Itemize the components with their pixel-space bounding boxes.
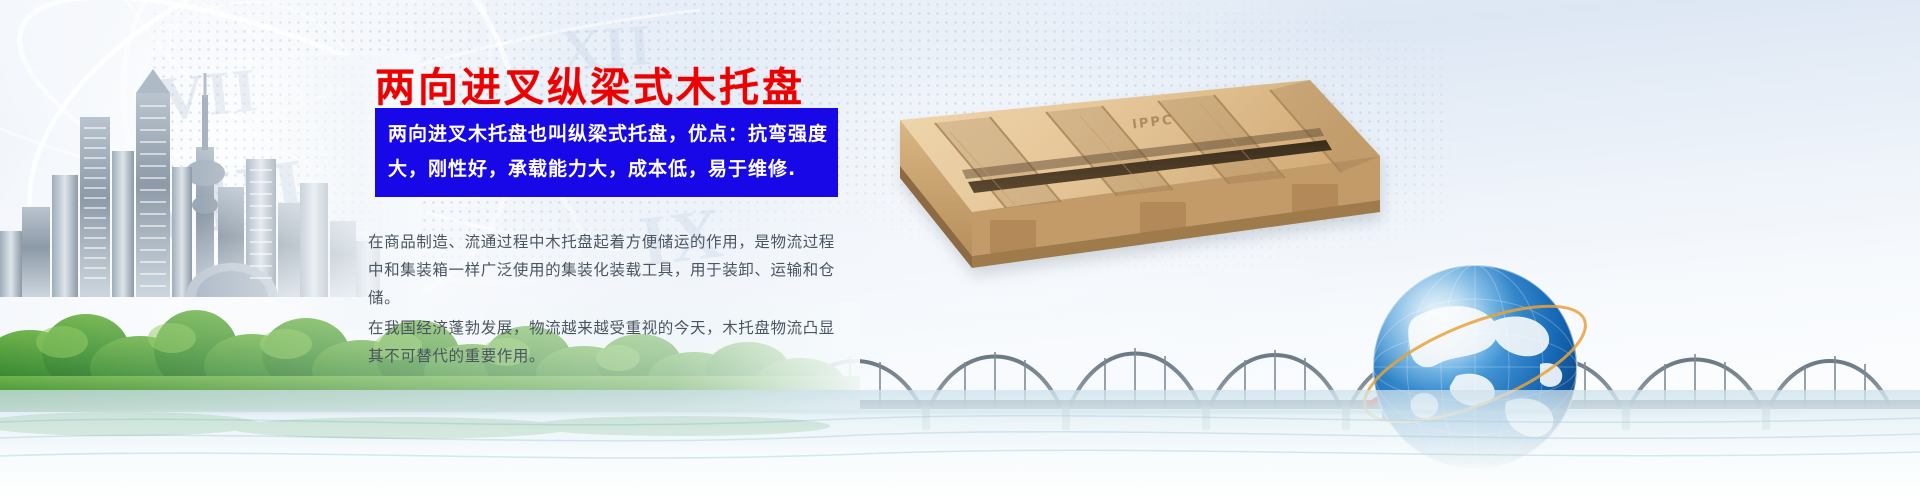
bar-1	[1382, 390, 1400, 420]
bar-2	[1408, 374, 1426, 420]
earth-globe-graphic	[1360, 252, 1590, 482]
decor-numeral-viii: VIII	[131, 137, 315, 262]
water-ripples	[0, 404, 1920, 500]
waterline-highlight	[0, 410, 1920, 414]
description-paragraph-2: 在我国经济蓬勃发展，物流越来越受重视的今天，木托盘物流凸显其不可替代的重要作用。	[368, 314, 846, 370]
bar-4	[1460, 340, 1478, 420]
highlight-callout-box: 两向进叉木托盘也叫纵梁式托盘，优点：抗弯强度 大，刚性好，承载能力大，成本低，易…	[375, 108, 838, 197]
page-title: 两向进叉纵梁式木托盘	[375, 55, 805, 113]
city-skyline-graphic	[0, 55, 420, 330]
bridge-silhouette	[780, 310, 1920, 430]
growth-arrow-icon	[1370, 318, 1482, 404]
pallet-stamp-text: IPPC	[1131, 113, 1174, 133]
wooden-pallet-photo: IPPC	[840, 60, 1400, 340]
water-reflection-band	[0, 390, 1920, 500]
callout-line-2: 大，刚性好，承载能力大，成本低，易于维修.	[388, 152, 825, 187]
description-block: 在商品制造、流通过程中木托盘起着方便储运的作用，是物流过程中和集装箱一样广泛使用…	[368, 228, 846, 370]
description-paragraph-1: 在商品制造、流通过程中木托盘起着方便储运的作用，是物流过程中和集装箱一样广泛使用…	[368, 228, 846, 312]
bar-3	[1434, 358, 1452, 420]
decor-numeral-vii: VII	[157, 55, 263, 136]
promo-banner: VIII VII XII IX	[0, 0, 1920, 500]
growth-bar-chart	[1360, 312, 1530, 422]
callout-line-1: 两向进叉木托盘也叫纵梁式托盘，优点：抗弯强度	[388, 117, 825, 152]
orbit-ring	[1360, 283, 1590, 446]
